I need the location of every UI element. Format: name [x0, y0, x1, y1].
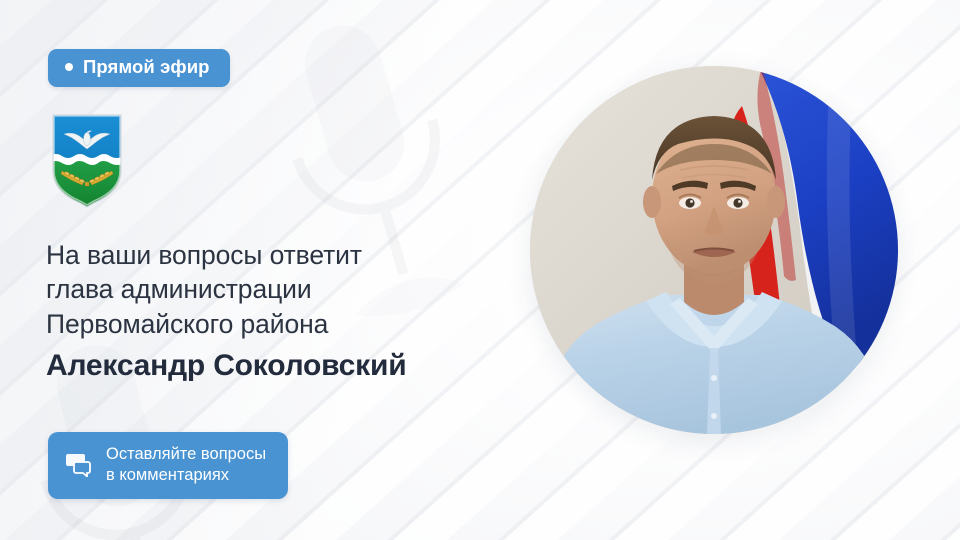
- portrait-avatar: [530, 66, 898, 434]
- headline-line-2: глава администрации: [46, 272, 476, 306]
- portrait-photo: [530, 66, 898, 434]
- headline-line-3: Первомайского района: [46, 307, 476, 341]
- live-announcement-banner: Прямой эфир: [0, 0, 960, 540]
- cta-line-2: в комментариях: [106, 465, 266, 486]
- chat-bubbles-icon: [66, 453, 92, 477]
- live-dot-icon: [65, 63, 73, 71]
- page-title: На ваши вопросы ответит глава администра…: [46, 238, 476, 341]
- person-name: Александр Соколовский: [46, 349, 406, 382]
- coat-of-arms-icon: [50, 112, 124, 210]
- leave-questions-button[interactable]: Оставляйте вопросы в комментариях: [48, 432, 288, 499]
- leave-questions-label: Оставляйте вопросы в комментариях: [106, 444, 266, 486]
- cta-line-1: Оставляйте вопросы: [106, 444, 266, 465]
- headline-line-1: На ваши вопросы ответит: [46, 238, 476, 272]
- live-badge-label: Прямой эфир: [83, 58, 210, 77]
- live-badge[interactable]: Прямой эфир: [48, 49, 230, 87]
